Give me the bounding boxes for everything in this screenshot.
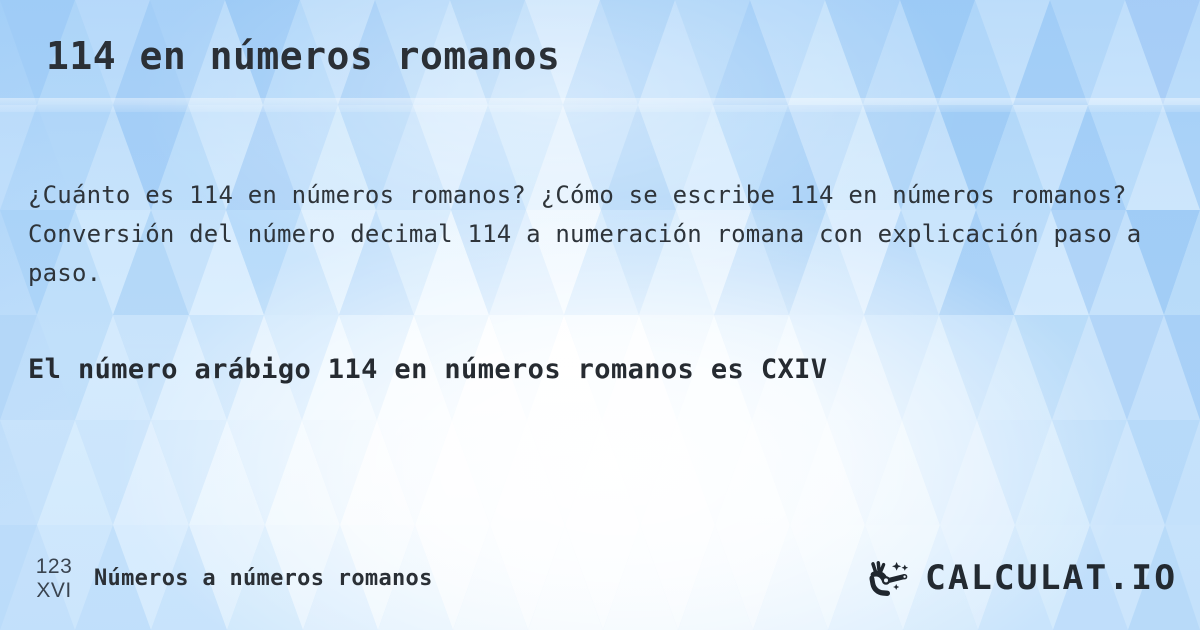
- number-conversion-icon-denominator: XVI: [36, 578, 71, 601]
- site-logo-text: CALCULAT.IO: [925, 558, 1177, 598]
- social-preview-card: 114 en números romanos ¿Cuánto es 114 en…: [0, 0, 1200, 630]
- footer-label: Números a números romanos: [94, 566, 433, 591]
- number-conversion-icon: 123 XVI: [28, 556, 80, 601]
- magic-wand-hand-icon: [863, 558, 919, 598]
- page-title: 114 en números romanos: [46, 33, 560, 79]
- answer-statement: El número arábigo 114 en números romanos…: [28, 348, 1138, 392]
- footer-brand-left[interactable]: 123 XVI Números a números romanos: [28, 556, 433, 601]
- footer: 123 XVI Números a números romanos: [0, 552, 1200, 604]
- intro-paragraph: ¿Cuánto es 114 en números romanos? ¿Cómo…: [28, 176, 1148, 293]
- number-conversion-icon-numerator: 123: [36, 556, 73, 578]
- site-logo[interactable]: CALCULAT.IO: [863, 558, 1172, 598]
- content-area: 114 en números romanos ¿Cuánto es 114 en…: [0, 0, 1200, 630]
